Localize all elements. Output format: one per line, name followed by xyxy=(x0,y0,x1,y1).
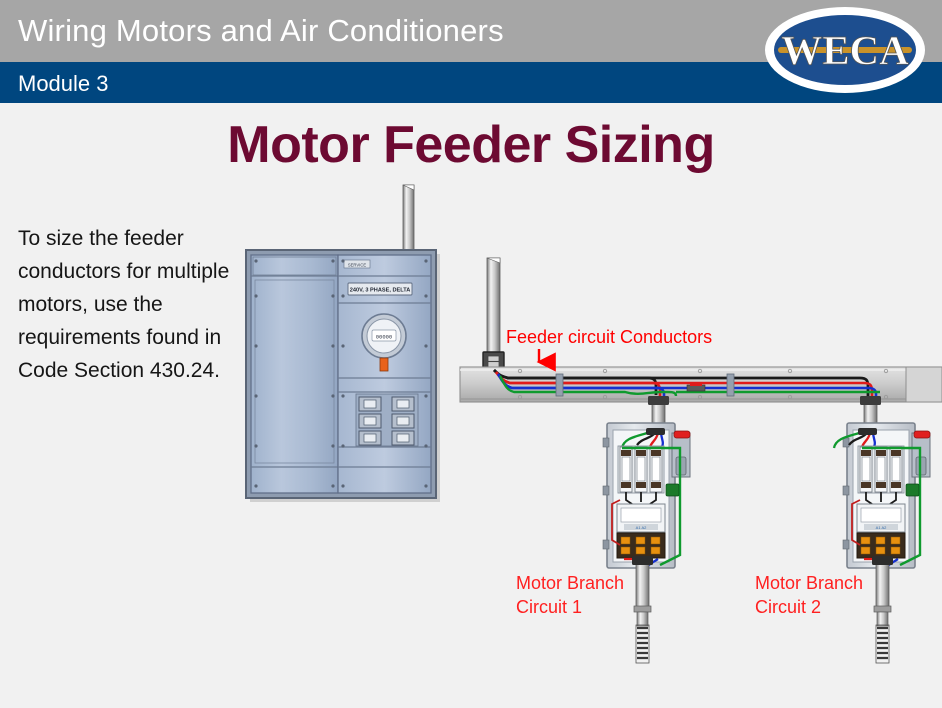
annotation-feeder-label: Feeder circuit Conductors xyxy=(506,327,712,347)
annotation-branch-1: Motor Branch Circuit 1 xyxy=(516,573,624,617)
weca-logo-text: WECA xyxy=(781,27,909,73)
motor-feeder-diagram: SERVICE 240V, 3 PHASE, DELTA 00000 xyxy=(0,100,942,708)
meter-register: 00000 xyxy=(376,333,393,340)
module-label: Module 3 xyxy=(18,71,109,97)
contactor-1: A1 A2 xyxy=(617,504,665,532)
switchboard-small-nameplate: SERVICE xyxy=(344,260,370,268)
breaker-array xyxy=(356,394,418,446)
motor-conduit-2 xyxy=(872,556,893,663)
switchboard-small-nameplate-text: SERVICE xyxy=(348,263,367,268)
service-switchboard: SERVICE 240V, 3 PHASE, DELTA 00000 xyxy=(246,185,440,502)
annotation-branch-1-line1: Motor Branch xyxy=(516,573,624,593)
riser-conduit xyxy=(483,258,504,371)
flex-whip-2 xyxy=(877,628,888,658)
annotation-branch-2-line1: Motor Branch xyxy=(755,573,863,593)
motor-starter-2: A1 A2 xyxy=(834,423,930,568)
contactor-marking-1: A1 A2 xyxy=(636,525,647,530)
weca-logo: WECA xyxy=(762,4,928,97)
fuse-block-1 xyxy=(618,446,664,493)
motor-conduit-1 xyxy=(632,556,653,663)
breaker-column-left xyxy=(359,397,381,445)
fuse-block-2 xyxy=(858,446,904,493)
annotation-branch-1-line2: Circuit 1 xyxy=(516,597,582,617)
annotation-branch-2: Motor Branch Circuit 2 xyxy=(755,573,863,617)
switchboard-rating-nameplate: 240V, 3 PHASE, DELTA xyxy=(348,283,412,295)
overload-relay-2 xyxy=(857,533,905,558)
contactor-marking-2: A1 A2 xyxy=(876,525,887,530)
breaker-column-right xyxy=(392,397,414,445)
annotation-branch-2-line2: Circuit 2 xyxy=(755,597,821,617)
course-title: Wiring Motors and Air Conditioners xyxy=(18,13,504,49)
overload-relay-1 xyxy=(617,533,665,558)
contactor-2: A1 A2 xyxy=(857,504,905,532)
motor-starter-1: A1 A2 xyxy=(603,423,690,568)
switchboard-rating-text: 240V, 3 PHASE, DELTA xyxy=(350,288,411,294)
flex-whip-1 xyxy=(637,628,648,658)
annotation-feeder: Feeder circuit Conductors xyxy=(506,327,712,362)
